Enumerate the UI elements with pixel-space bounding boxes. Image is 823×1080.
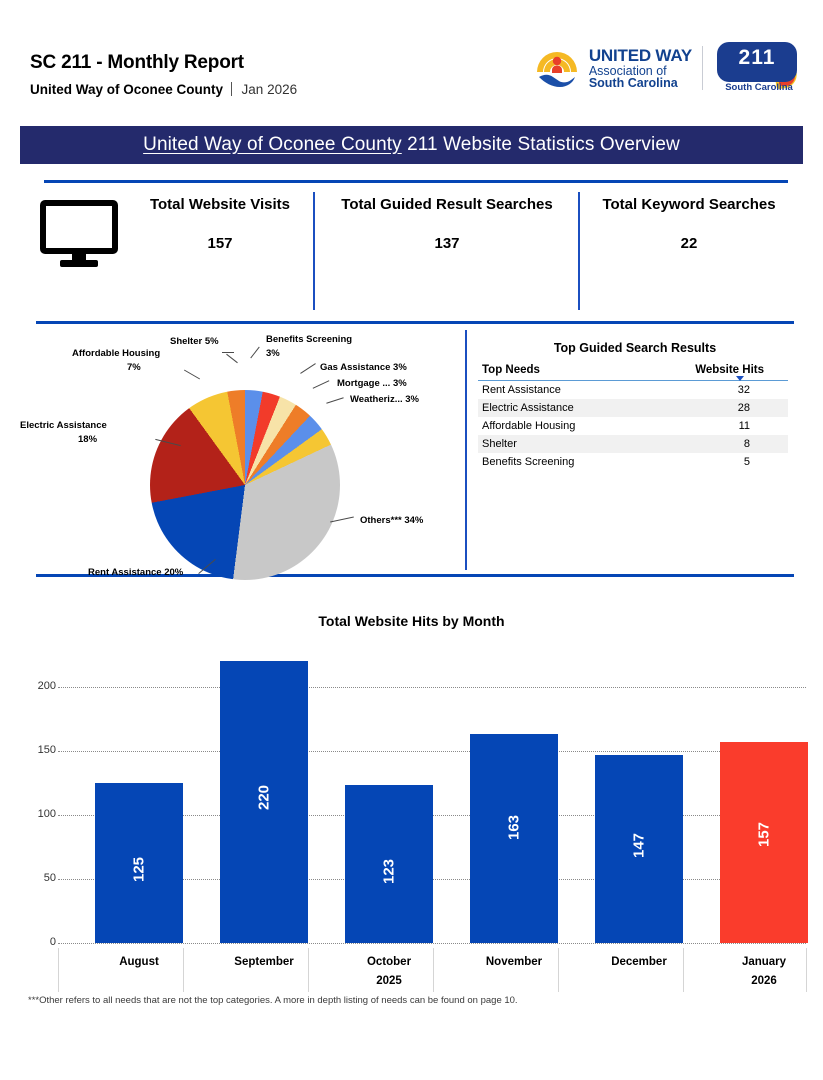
table-header-row: Top Needs Website Hits — [478, 362, 788, 381]
bar-november[interactable]: 163 — [470, 734, 558, 943]
united-way-wordmark: UNITED WAY Association of South Carolina — [589, 47, 692, 90]
report-header: SC 211 - Monthly Report United Way of Oc… — [0, 0, 823, 118]
pie-label-mortgage: Mortgage ... 3% — [337, 378, 407, 389]
monitor-base — [60, 260, 98, 267]
cell-need: Benefits Screening — [478, 453, 637, 471]
united-way-hand-icon — [533, 44, 581, 92]
table-head: Top Needs Website Hits — [478, 362, 788, 381]
pie-leader-benefits — [250, 347, 259, 359]
bar-value-september: 220 — [256, 785, 273, 810]
pie-label-gas-assistance: Gas Assistance 3% — [320, 362, 407, 373]
pie-leader-gas — [300, 363, 316, 374]
gridline-0 — [58, 943, 806, 944]
pie-label-affordable-housing-line1: Affordable Housing — [72, 348, 160, 359]
kpi-bottom-rule — [36, 321, 794, 324]
cell-hits: 11 — [637, 417, 788, 435]
x-year-label-2026: 2026 — [720, 975, 808, 987]
table-row: Rent Assistance 32 — [478, 381, 788, 400]
banner-underlined-text: United Way of Oconee County — [143, 134, 402, 155]
x-label-august: August — [95, 956, 183, 968]
page-title: SC 211 - Monthly Report — [30, 52, 244, 74]
table-row: Electric Assistance 28 — [478, 399, 788, 417]
gridline-200 — [58, 687, 806, 688]
x-label-october: October — [345, 956, 433, 968]
kpi-label: Total Website Visits — [130, 196, 310, 213]
pie-label-benefits-screening-line1: Benefits Screening — [266, 334, 352, 345]
cell-hits: 32 — [637, 381, 788, 400]
banner-title: United Way of Oconee County 211 Website … — [143, 134, 680, 156]
bar-october[interactable]: 123 — [345, 785, 433, 943]
header-period: Jan 2026 — [242, 82, 298, 97]
pie-label-electric-assistance-line2: 18% — [78, 434, 97, 445]
pie-leader-shelter — [226, 354, 238, 363]
n211-number: 211 — [717, 46, 797, 70]
kpi-label: Total Keyword Searches — [583, 196, 795, 213]
x-label-november: November — [470, 956, 558, 968]
bar-value-december: 147 — [631, 832, 648, 857]
top-guided-search-results-table: Top Needs Website Hits Rent Assistance 3… — [478, 362, 788, 471]
cell-hits: 8 — [637, 435, 788, 453]
n211-logo: 211 South Carolina — [713, 42, 805, 94]
cell-need: Shelter — [478, 435, 637, 453]
cell-need: Affordable Housing — [478, 417, 637, 435]
pie-label-rent-assistance: Rent Assistance 20% — [88, 567, 183, 578]
table-row: Shelter 8 — [478, 435, 788, 453]
bar-value-november: 163 — [506, 815, 523, 840]
column-header-website-hits-label: Website Hits — [695, 364, 764, 376]
logo-separator — [702, 46, 703, 90]
x-label-december: December — [595, 956, 683, 968]
bar-value-january: 157 — [756, 822, 773, 847]
header-subtitle: United Way of Oconee County Jan 2026 — [30, 82, 297, 97]
header-divider — [231, 82, 232, 96]
pie-label-weatherization: Weatheriz... 3% — [350, 394, 419, 405]
pie-leader-mortgage — [313, 380, 330, 389]
uw-line3: South Carolina — [589, 77, 692, 90]
pie-leader-affordable — [184, 370, 200, 380]
kpi-label: Total Guided Result Searches — [318, 196, 576, 213]
pie-label-shelter: Shelter 5% — [170, 336, 219, 347]
x-label-january: January — [720, 956, 808, 968]
pie-label-others: Others*** 34% — [360, 515, 423, 526]
bar-august[interactable]: 125 — [95, 783, 183, 943]
monitor-icon — [40, 200, 122, 266]
united-way-logo: UNITED WAY Association of South Carolina — [533, 44, 692, 92]
table-title: Top Guided Search Results — [475, 341, 795, 355]
kpi-total-keyword-searches: Total Keyword Searches 22 — [583, 196, 795, 308]
footnote: ***Other refers to all needs that are no… — [28, 995, 518, 1006]
column-header-website-hits[interactable]: Website Hits — [637, 362, 788, 381]
cell-need: Electric Assistance — [478, 399, 637, 417]
pie-slices — [150, 390, 340, 580]
logo-group: UNITED WAY Association of South Carolina… — [533, 42, 805, 94]
kpi-divider-1 — [313, 192, 315, 310]
bar-chart-title: Total Website Hits by Month — [0, 613, 823, 629]
kpi-total-guided-result-searches: Total Guided Result Searches 137 — [318, 196, 576, 308]
kpi-value: 157 — [130, 235, 310, 252]
pie-leader-shelter-2 — [222, 352, 234, 353]
cell-need: Rent Assistance — [478, 381, 637, 400]
bar-january[interactable]: 157 — [720, 742, 808, 943]
x-year-label-2025: 2025 — [345, 975, 433, 987]
kpi-total-website-visits: Total Website Visits 157 — [130, 196, 310, 308]
bar-chart-plot-area: 125 220 123 163 147 157 — [58, 648, 806, 943]
section-banner: United Way of Oconee County 211 Website … — [20, 126, 803, 164]
cell-hits: 28 — [637, 399, 788, 417]
bar-value-august: 125 — [131, 857, 148, 882]
total-website-hits-by-month-chart: 125 220 123 163 147 157 — [0, 648, 823, 948]
pie-table-divider — [465, 330, 467, 570]
kpi-top-rule — [44, 180, 788, 183]
n211-state: South Carolina — [713, 82, 805, 93]
uw-line1: UNITED WAY — [589, 47, 692, 64]
cell-hits: 5 — [637, 453, 788, 471]
sort-descending-icon[interactable] — [736, 376, 744, 381]
table-row: Affordable Housing 11 — [478, 417, 788, 435]
pie-label-benefits-screening-line2: 3% — [266, 348, 280, 359]
pie-label-affordable-housing-line2: 7% — [127, 362, 141, 373]
banner-rest-text: 211 Website Statistics Overview — [402, 134, 680, 155]
table-row: Benefits Screening 5 — [478, 453, 788, 471]
kpi-value: 22 — [583, 235, 795, 252]
bar-september[interactable]: 220 — [220, 661, 308, 943]
header-org: United Way of Oconee County — [30, 82, 223, 97]
column-header-top-needs[interactable]: Top Needs — [478, 362, 637, 381]
bar-value-october: 123 — [381, 859, 398, 884]
x-label-september: September — [220, 956, 308, 968]
bar-december[interactable]: 147 — [595, 755, 683, 944]
table-body: Rent Assistance 32 Electric Assistance 2… — [478, 381, 788, 472]
kpi-divider-2 — [578, 192, 580, 310]
top-needs-pie-chart — [150, 390, 340, 580]
monitor-screen-inner — [46, 206, 112, 248]
bar-chart-x-axis-labels: August September October November Decemb… — [58, 953, 806, 999]
gridline-150 — [58, 751, 806, 752]
kpi-value: 137 — [318, 235, 576, 252]
pie-label-electric-assistance-line1: Electric Assistance — [20, 420, 107, 431]
